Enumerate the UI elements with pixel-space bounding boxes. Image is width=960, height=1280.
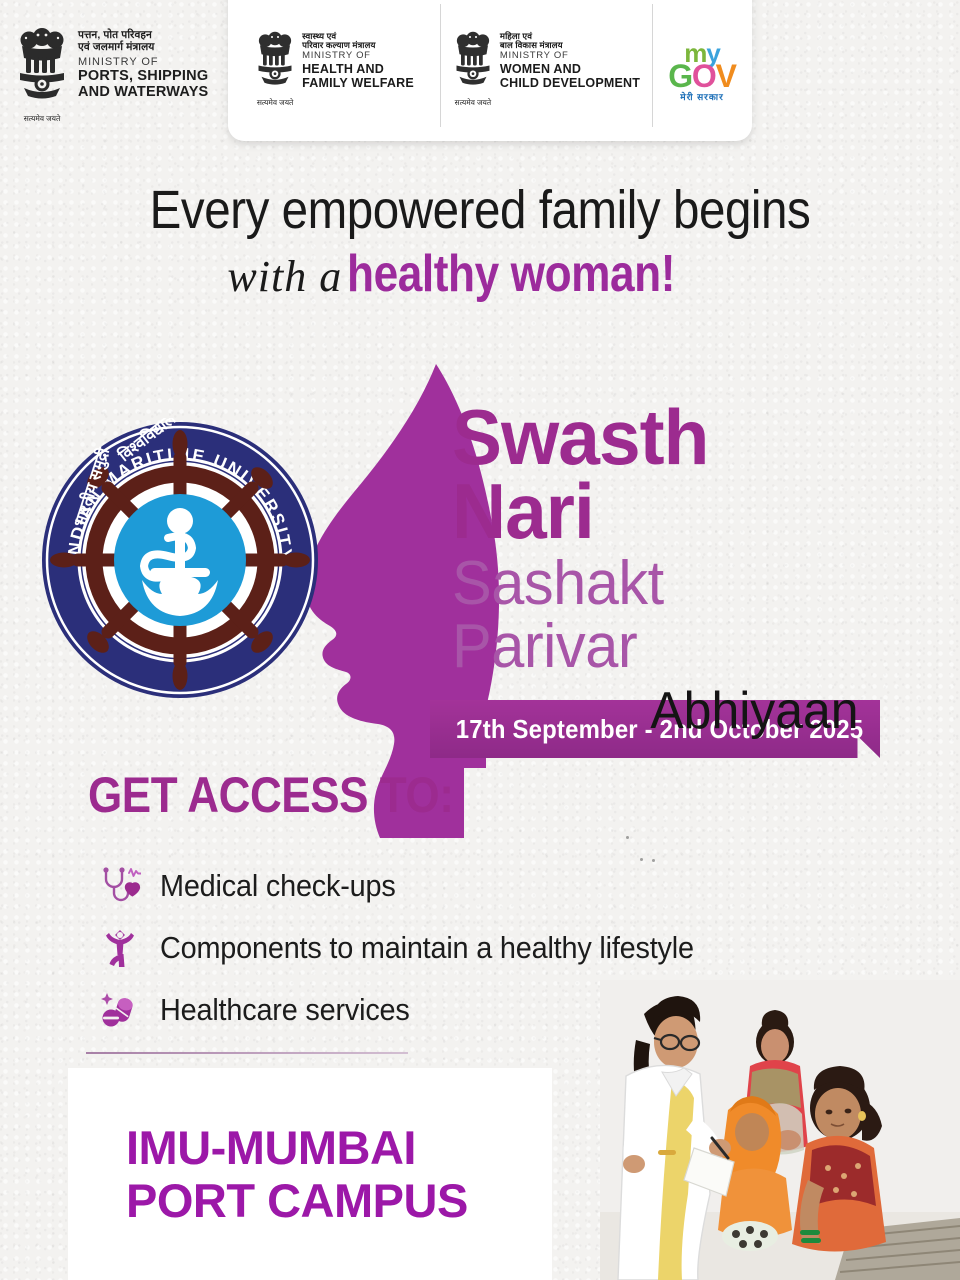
ministry-wcd-name-1: WOMEN AND xyxy=(500,62,640,76)
indian-maritime-university-logo: INDIAN MARITIME UNIVERSITY समुद्र ज्ञानं… xyxy=(38,418,322,702)
ministry-ports-hindi-1: पत्तन, पोत परिवहन xyxy=(78,30,208,42)
campaign-title: Swasth Nari Sashakt Parivar Abhiyaan xyxy=(452,400,872,738)
get-access-heading: GET ACCESS TO: xyxy=(88,766,453,824)
ministry-health-name-1: HEALTH AND xyxy=(302,62,414,76)
campaign-title-line-3: Abhiyaan xyxy=(469,685,872,738)
poster-canvas: सत्यमेव जयते पत्तन, पोत परिवहन एवं जलमार… xyxy=(0,0,960,1280)
list-item: Medical check-ups xyxy=(98,855,738,917)
mygov-letter-o: O xyxy=(692,58,716,94)
ministry-ports-prefix: MINISTRY OF xyxy=(78,56,208,68)
scan-artifact-dot xyxy=(626,836,629,839)
headline-line-2: with a healthy woman! xyxy=(0,247,960,302)
headline-line-1: Every empowered family begins xyxy=(58,182,903,239)
campaign-title-line-1: Swasth Nari xyxy=(452,400,855,548)
ministry-ports-name-1: PORTS, SHIPPING xyxy=(78,68,208,84)
india-state-emblem-icon: सत्यमेव जयते xyxy=(254,30,296,108)
mygov-subtitle: मेरी सरकार xyxy=(668,93,736,102)
ministry-wcd-prefix: MINISTRY OF xyxy=(500,51,640,61)
ministry-wcd-hindi-2: बाल विकास मंत्रालय xyxy=(500,41,640,50)
india-state-emblem-icon: सत्यमेव जयते xyxy=(14,26,70,124)
mygov-letter-g: G xyxy=(668,58,692,94)
headline-emphasis-text: healthy woman! xyxy=(347,247,675,302)
ministry-ports-shipping-logo: सत्यमेव जयते पत्तन, पोत परिवहन एवं जलमार… xyxy=(14,26,214,130)
ministry-wcd-name-2: CHILD DEVELOPMENT xyxy=(500,76,640,90)
scan-artifact-dot xyxy=(652,859,655,862)
yoga-pose-icon xyxy=(98,927,142,969)
government-logos-card: सत्यमेव जयते स्वास्थ्य एवं परिवार कल्याण… xyxy=(228,0,752,141)
india-state-emblem-icon: सत्यमेव जयते xyxy=(452,30,494,108)
ministry-health-family-welfare-logo: सत्यमेव जयते स्वास्थ्य एवं परिवार कल्याण… xyxy=(228,0,440,141)
section-divider xyxy=(86,1052,408,1054)
ministry-health-name-2: FAMILY WELFARE xyxy=(302,76,414,90)
headline-script-text: with a xyxy=(227,252,342,301)
list-item: Components to maintain a healthy lifesty… xyxy=(98,917,738,979)
pills-medicine-icon xyxy=(98,989,142,1031)
mygov-letter-v: V xyxy=(716,58,736,94)
campus-name-box: IMU-MUMBAI PORT CAMPUS xyxy=(68,1068,552,1280)
list-item-label: Components to maintain a healthy lifesty… xyxy=(160,930,694,966)
scan-artifact-dot xyxy=(640,858,643,861)
ministry-women-child-development-logo: सत्यमेव जयते महिला एवं बाल विकास मंत्राल… xyxy=(440,0,652,141)
campaign-title-line-2: Sashakt Parivar xyxy=(452,552,855,678)
ministry-ports-hindi-2: एवं जलमार्ग मंत्रालय xyxy=(78,42,208,54)
mygov-logo: my GOV मेरी सरकार xyxy=(652,0,752,141)
ministry-ports-name-2: AND WATERWAYS xyxy=(78,84,208,100)
poster-headline: Every empowered family begins with a hea… xyxy=(0,182,960,301)
list-item-label: Medical check-ups xyxy=(160,868,396,904)
campus-name-line-2: PORT CAMPUS xyxy=(126,1175,552,1228)
campus-name-line-1: IMU-MUMBAI xyxy=(126,1122,552,1175)
emblem-motto-wcd: सत्यमेव जयते xyxy=(452,98,494,108)
ministry-health-hindi-2: परिवार कल्याण मंत्रालय xyxy=(302,41,414,50)
stethoscope-heart-icon xyxy=(98,865,142,907)
emblem-motto-left: सत्यमेव जयते xyxy=(14,114,70,124)
list-item-label: Healthcare services xyxy=(160,992,410,1028)
ministry-health-prefix: MINISTRY OF xyxy=(302,51,414,61)
emblem-motto-health: सत्यमेव जयते xyxy=(254,98,296,108)
health-camp-photo xyxy=(600,980,960,1280)
